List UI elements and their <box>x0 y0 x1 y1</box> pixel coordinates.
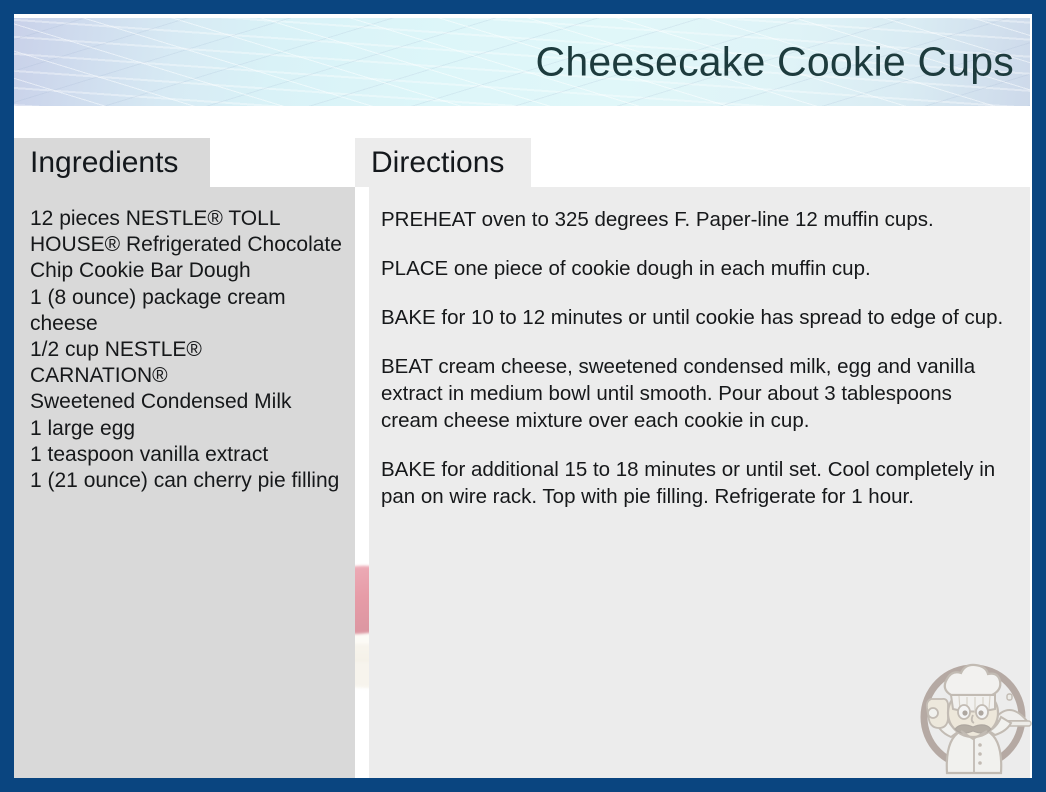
ingredients-panel: 12 pieces NESTLE® TOLL HOUSE® Refrigerat… <box>14 187 355 778</box>
directions-list: PREHEAT oven to 325 degrees F. Paper-lin… <box>381 206 1014 510</box>
tab-directions[interactable]: Directions <box>355 138 531 187</box>
list-item: 1 (8 ounce) package cream cheese <box>30 285 345 337</box>
tab-ingredients[interactable]: Ingredients <box>14 138 210 187</box>
ingredients-list: 12 pieces NESTLE® TOLL HOUSE® Refrigerat… <box>30 206 345 494</box>
recipe-card: Cheesecake Cookie Cups <box>0 0 1046 792</box>
direction-step: BAKE for additional 15 to 18 minutes or … <box>381 456 1014 510</box>
direction-step: BEAT cream cheese, sweetened condensed m… <box>381 353 1014 434</box>
direction-step: BAKE for 10 to 12 minutes or until cooki… <box>381 304 1014 331</box>
direction-step: PREHEAT oven to 325 degrees F. Paper-lin… <box>381 206 1014 233</box>
list-item: 1 teaspoon vanilla extract <box>30 442 345 468</box>
direction-step: PLACE one piece of cookie dough in each … <box>381 255 1014 282</box>
directions-panel: PREHEAT oven to 325 degrees F. Paper-lin… <box>369 187 1030 778</box>
card-inner: Cheesecake Cookie Cups <box>14 14 1032 778</box>
list-item: 12 pieces NESTLE® TOLL HOUSE® Refrigerat… <box>30 206 345 285</box>
list-item: 1 (21 ounce) can cherry pie filling <box>30 468 345 494</box>
list-item: 1/2 cup NESTLE® CARNATION® Sweetened Con… <box>30 337 345 416</box>
list-item: 1 large egg <box>30 416 345 442</box>
page-title: Cheesecake Cookie Cups <box>536 40 1014 83</box>
header-banner: Cheesecake Cookie Cups <box>14 18 1030 106</box>
